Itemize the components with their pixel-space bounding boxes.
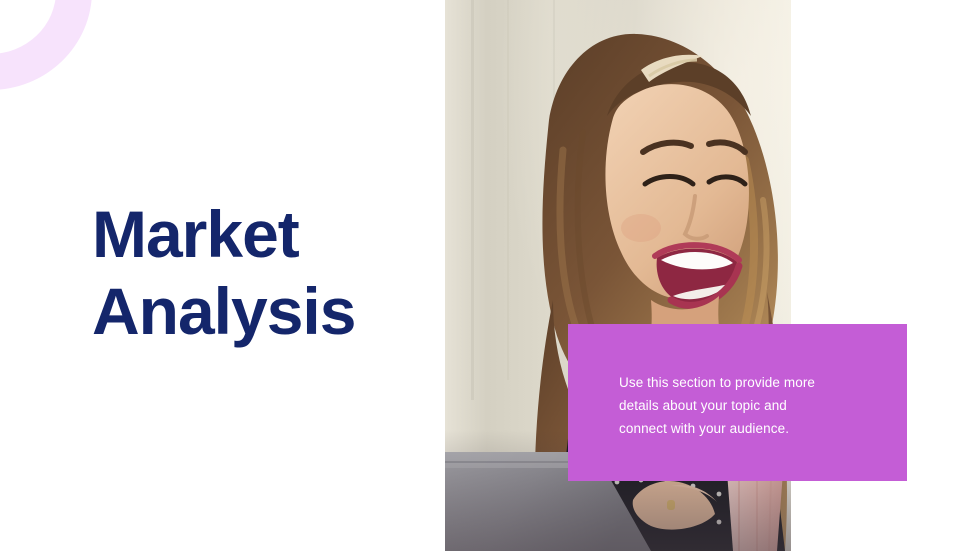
caption-line-3: connect with your audience. <box>619 417 869 440</box>
title-line-2: Analysis <box>92 273 422 350</box>
lavender-ring-icon <box>0 0 92 90</box>
title-line-1: Market <box>92 196 422 273</box>
page-title: Market Analysis <box>92 196 422 350</box>
caption-line-2: details about your topic and <box>619 394 869 417</box>
caption-text-block: Use this section to provide more details… <box>619 371 869 440</box>
slide-canvas: Market Analysis <box>0 0 980 551</box>
caption-line-1: Use this section to provide more <box>619 371 869 394</box>
purple-caption-card: Use this section to provide more details… <box>568 324 907 481</box>
